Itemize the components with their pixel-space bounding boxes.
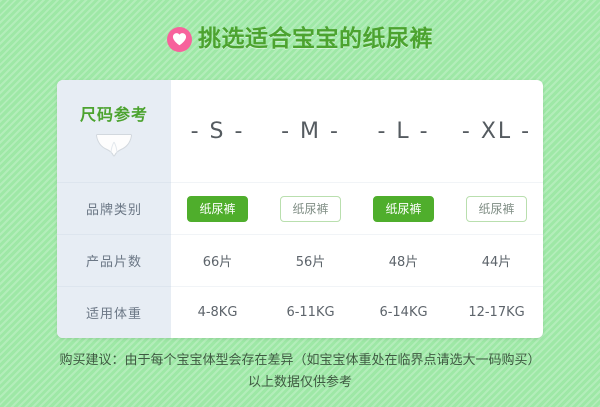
row-label-product-count: 产品片数 xyxy=(57,234,171,286)
badge-diaper-s[interactable]: 纸尿裤 xyxy=(187,196,247,222)
value-count-m: 56片 xyxy=(296,251,326,270)
badge-diaper-xl[interactable]: 纸尿裤 xyxy=(466,196,526,222)
footer-line-2: 以上数据仅供参考 xyxy=(0,372,600,394)
cell-brand-s: 纸尿裤 xyxy=(171,196,264,222)
size-cell-s: - S - xyxy=(171,119,264,144)
row-label-text: 适用体重 xyxy=(86,303,142,322)
cell-brand-xl: 纸尿裤 xyxy=(450,196,543,222)
cell-count-xl: 44片 xyxy=(450,251,543,270)
badge-diaper-l[interactable]: 纸尿裤 xyxy=(373,196,433,222)
diaper-icon xyxy=(95,132,133,162)
cell-count-m: 56片 xyxy=(264,251,357,270)
value-count-s: 66片 xyxy=(203,251,233,270)
row-values-weight: 4-8KG 6-11KG 6-14KG 12-17KG xyxy=(171,287,543,338)
value-count-xl: 44片 xyxy=(482,251,512,270)
row-values-product-count: 66片 56片 48片 44片 xyxy=(171,235,543,286)
size-label-xl: - XL - xyxy=(462,119,531,144)
size-cell-xl: - XL - xyxy=(450,119,543,144)
row-label-text: 品牌类别 xyxy=(86,199,142,218)
cell-count-s: 66片 xyxy=(171,251,264,270)
row-values-brand-category: 纸尿裤 纸尿裤 纸尿裤 纸尿裤 xyxy=(171,183,543,234)
table-row: 品牌类别 纸尿裤 纸尿裤 纸尿裤 纸尿裤 xyxy=(57,182,543,234)
value-count-l: 48片 xyxy=(389,251,419,270)
size-reference-cell: 尺码参考 xyxy=(57,80,171,182)
size-cell-l: - L - xyxy=(357,119,450,144)
row-label-brand-category: 品牌类别 xyxy=(57,182,171,234)
badge-diaper-m[interactable]: 纸尿裤 xyxy=(280,196,340,222)
cell-weight-l: 6-14KG xyxy=(357,305,450,320)
value-weight-m: 6-11KG xyxy=(286,305,334,320)
page-title: 挑选适合宝宝的纸尿裤 xyxy=(198,28,433,51)
cell-brand-l: 纸尿裤 xyxy=(357,196,450,222)
size-label-s: - S - xyxy=(191,119,245,144)
size-reference-card: 尺码参考 - S - - M - - L - - XL - xyxy=(57,80,543,338)
row-label-text: 产品片数 xyxy=(86,251,142,270)
size-cell-m: - M - xyxy=(264,119,357,144)
size-label-m: - M - xyxy=(281,119,340,144)
size-reference-title: 尺码参考 xyxy=(80,101,148,125)
value-weight-s: 4-8KG xyxy=(198,305,238,320)
row-label-weight: 适用体重 xyxy=(57,286,171,338)
value-weight-xl: 12-17KG xyxy=(468,305,524,320)
page-title-bar: 挑选适合宝宝的纸尿裤 xyxy=(0,18,600,60)
table-row: 产品片数 66片 56片 48片 44片 xyxy=(57,234,543,286)
value-weight-l: 6-14KG xyxy=(379,305,427,320)
cell-brand-m: 纸尿裤 xyxy=(264,196,357,222)
footer-line-1: 购买建议：由于每个宝宝体型会存在差异（如宝宝体重处在临界点请选大一码购买） xyxy=(0,350,600,372)
cell-weight-m: 6-11KG xyxy=(264,305,357,320)
cell-weight-xl: 12-17KG xyxy=(450,305,543,320)
cell-weight-s: 4-8KG xyxy=(171,305,264,320)
footer-note: 购买建议：由于每个宝宝体型会存在差异（如宝宝体重处在临界点请选大一码购买） 以上… xyxy=(0,350,600,394)
table-header-row: 尺码参考 - S - - M - - L - - XL - xyxy=(57,80,543,182)
heart-icon xyxy=(167,27,192,52)
table-row: 适用体重 4-8KG 6-11KG 6-14KG 12-17KG xyxy=(57,286,543,338)
size-labels-area: - S - - M - - L - - XL - xyxy=(171,80,543,182)
size-label-l: - L - xyxy=(377,119,429,144)
cell-count-l: 48片 xyxy=(357,251,450,270)
